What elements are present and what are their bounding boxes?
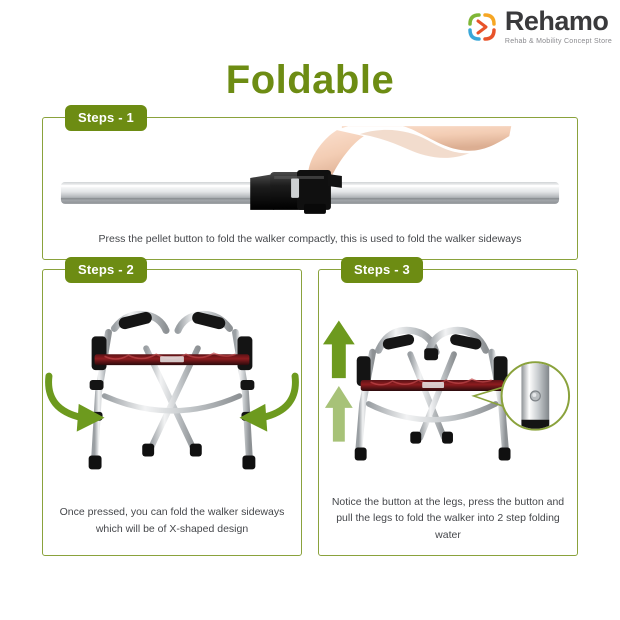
step-panel-1: Steps - 1 <box>42 117 578 260</box>
page-title: Foldable <box>0 58 620 103</box>
step-2-caption: Once pressed, you can fold the walker si… <box>51 504 293 537</box>
brand-text-block: Rehamo Rehab & Mobility Concept Store <box>505 8 612 45</box>
brand-header: Rehamo Rehab & Mobility Concept Store <box>466 8 612 45</box>
brand-tagline: Rehab & Mobility Concept Store <box>505 38 612 45</box>
step-1-illustration <box>43 126 577 214</box>
step-1-caption: Press the pellet button to fold the walk… <box>51 231 569 247</box>
brand-name: Rehamo <box>505 8 609 35</box>
step-badge-2: Steps - 2 <box>65 257 147 283</box>
step-panel-2: Steps - 2 <box>42 269 302 556</box>
step-2-illustration <box>43 292 301 484</box>
step-panel-3: Steps - 3 <box>318 269 578 556</box>
step-3-illustration <box>319 292 577 484</box>
step-3-caption: Notice the button at the legs, press the… <box>327 494 569 543</box>
step-badge-3: Steps - 3 <box>341 257 423 283</box>
rehamo-diamond-logo-icon <box>466 11 498 43</box>
